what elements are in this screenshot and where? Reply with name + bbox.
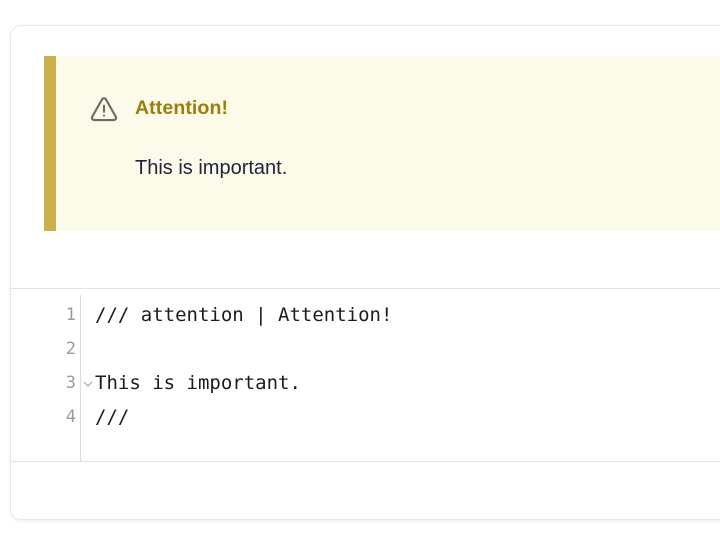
gutter-line: 3 xyxy=(11,366,80,400)
admonition-title: Attention! xyxy=(135,99,228,119)
admonition-text: This is important. xyxy=(135,158,287,178)
admonition-title-row: Attention! xyxy=(89,94,228,124)
screenshot-root: Attention! This is important. 1234 /// a… xyxy=(0,0,720,544)
gutter-line: 2 xyxy=(11,332,80,366)
gutter-divider xyxy=(80,295,81,463)
editor-footer-strip xyxy=(11,462,720,520)
gutter-line-number: 3 xyxy=(66,375,76,392)
code-line[interactable] xyxy=(95,332,720,366)
gutter-line-number: 4 xyxy=(66,409,76,426)
chevron-down-icon[interactable] xyxy=(82,377,94,389)
editor-gutter: 1234 xyxy=(11,298,80,461)
gutter-line: 1 xyxy=(11,298,80,332)
warning-triangle-icon xyxy=(89,94,119,124)
admonition-attention: Attention! This is important. xyxy=(44,56,720,231)
code-line[interactable]: This is important. xyxy=(95,366,720,400)
editor-code-area[interactable]: /// attention | Attention!This is import… xyxy=(95,298,720,461)
admonition-body: Attention! This is important. xyxy=(56,56,720,231)
rendered-preview-pane: Attention! This is important. xyxy=(11,26,720,288)
code-line[interactable]: /// xyxy=(95,400,720,434)
gutter-line: 4 xyxy=(11,400,80,434)
code-line[interactable]: /// attention | Attention! xyxy=(95,298,720,332)
code-editor-pane[interactable]: 1234 /// attention | Attention!This is i… xyxy=(11,289,720,461)
admonition-accent-stripe xyxy=(44,56,56,231)
example-card: Attention! This is important. 1234 /// a… xyxy=(10,25,720,520)
gutter-line-number: 2 xyxy=(66,341,76,358)
gutter-line-number: 1 xyxy=(66,307,76,324)
